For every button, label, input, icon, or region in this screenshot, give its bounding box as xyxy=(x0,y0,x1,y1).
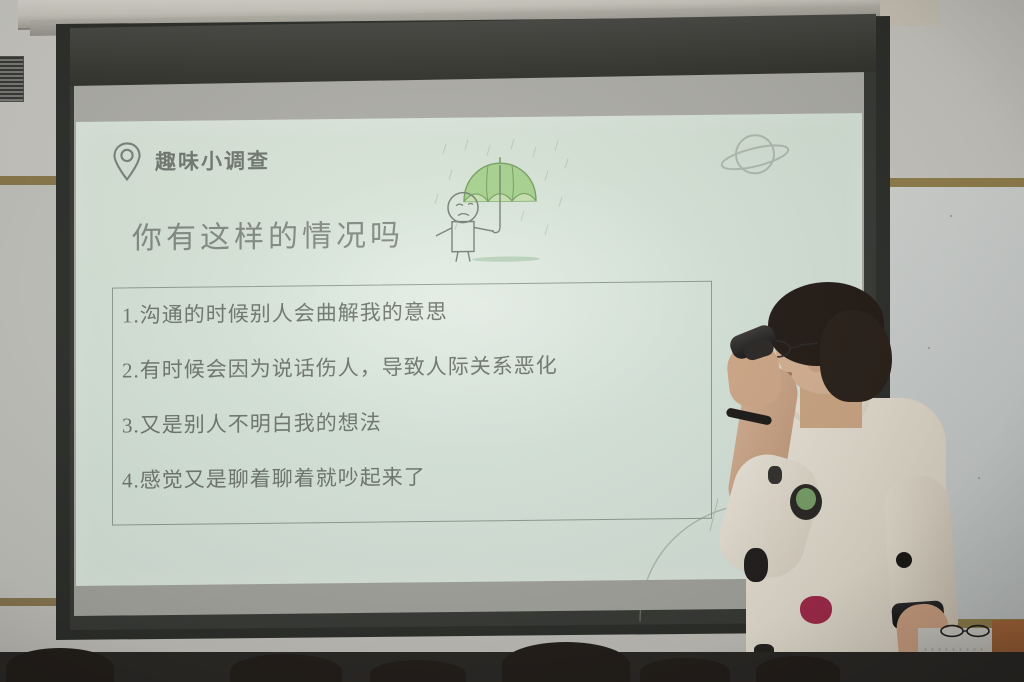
wall-trim-right-top xyxy=(886,178,1024,187)
whiteboard-speck xyxy=(950,215,952,217)
slide-header-title: 趣味小调查 xyxy=(155,145,270,176)
sweatshirt-patch xyxy=(800,596,832,624)
list-item: 4.感觉又是聊着聊着就吵起来了 xyxy=(122,458,732,495)
whiteboard-speck xyxy=(978,477,980,479)
sweatshirt-patch-inner xyxy=(796,488,816,510)
list-item: 3.又是别人不明白我的想法 xyxy=(122,403,732,440)
umbrella-illustration xyxy=(428,134,596,266)
location-pin-icon xyxy=(112,141,142,181)
wall-trim-left-top xyxy=(0,176,62,185)
saturn-planet-icon xyxy=(718,126,792,187)
wall-panel-left xyxy=(0,185,62,598)
list-item: 2.有时候会因为说话伤人，导致人际关系恶化 xyxy=(122,348,732,385)
classroom-screenshot: 趣味小调查 你有这样的情况吗 xyxy=(0,0,1024,682)
wall-upper-right xyxy=(886,0,1024,178)
slide-header: 趣味小调查 xyxy=(112,140,270,182)
eyeglasses-on-podium-icon xyxy=(938,624,994,638)
sleeve-logo-patch xyxy=(896,552,912,568)
student-head-silhouette xyxy=(640,658,730,682)
wall-trim-left-bottom xyxy=(0,598,62,606)
presenter xyxy=(690,286,960,682)
wall-vent-icon xyxy=(0,56,24,102)
sweatshirt-patch xyxy=(744,548,768,582)
student-head-silhouette xyxy=(502,642,630,682)
student-head-silhouette xyxy=(230,654,342,682)
sweatshirt-patch xyxy=(768,466,782,484)
student-head-silhouette xyxy=(370,660,466,682)
list-item: 1.沟通的时候别人会曲解我的意思 xyxy=(122,293,732,330)
student-head-silhouette xyxy=(756,656,840,682)
slide-subtitle: 你有这样的情况吗 xyxy=(132,210,404,257)
survey-list: 1.沟通的时候别人会曲解我的意思 2.有时候会因为说话伤人，导致人际关系恶化 3… xyxy=(122,293,732,520)
student-head-silhouette xyxy=(6,648,114,682)
